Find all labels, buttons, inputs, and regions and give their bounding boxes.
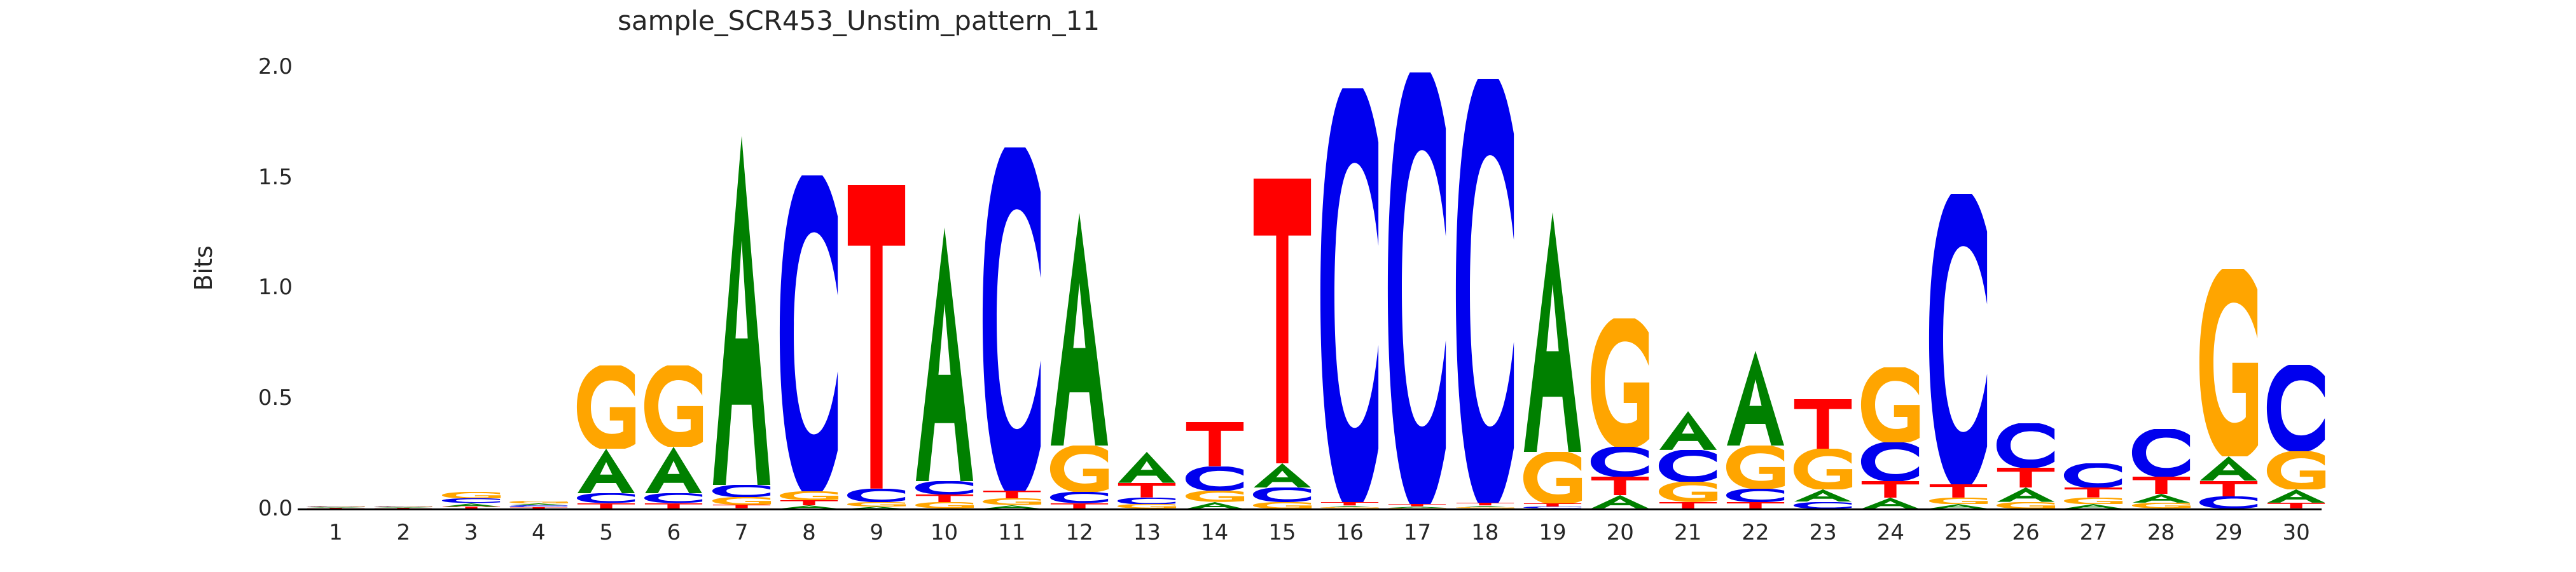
sequence-logo-figure: sample_SCR453_Unstim_pattern_11 Bits 0.0…: [0, 0, 2576, 572]
x-axis-ticks: 1234567891011121314151617181920212223242…: [0, 0, 2576, 572]
plot-area: Bits 0.0 0.5 1.0 1.5 2.0 123456789101112…: [0, 0, 2576, 572]
x-tick-30: 30: [2252, 520, 2341, 545]
